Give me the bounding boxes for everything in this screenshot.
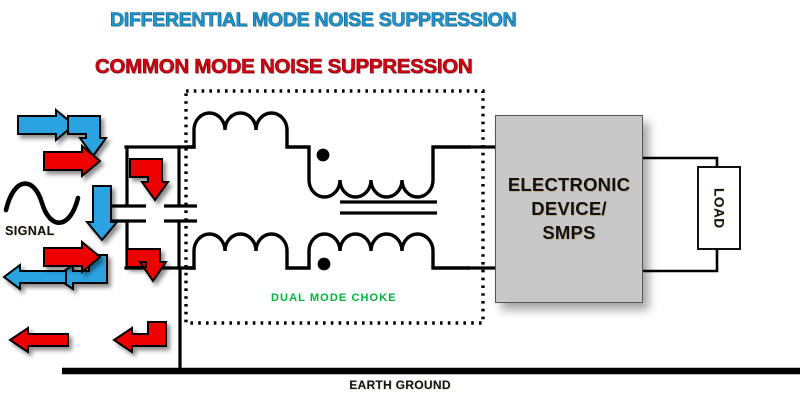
schematic-svg bbox=[0, 0, 800, 409]
device-label-line1: ELECTRONIC bbox=[508, 174, 630, 195]
choke-polarity-dot-upper bbox=[317, 149, 330, 162]
red-arrow-ground-bend-left bbox=[114, 322, 166, 352]
red-arrow-bottom-bend-down bbox=[127, 249, 166, 281]
electronic-device-label: ELECTRONIC DEVICE/ SMPS bbox=[508, 173, 630, 244]
device-label-line2: DEVICE/ bbox=[531, 198, 606, 219]
dual-mode-choke bbox=[186, 113, 470, 270]
red-arrows-group bbox=[10, 146, 168, 352]
red-arrow-top-bend-down bbox=[130, 159, 168, 200]
capacitor-bank bbox=[112, 206, 197, 221]
choke-winding-upper-right bbox=[309, 147, 470, 197]
earth-ground-label: EARTH GROUND bbox=[0, 378, 800, 392]
choke-polarity-dot-lower bbox=[318, 258, 331, 271]
circuit-diagram-canvas: DIFFERENTIAL MODE NOISE SUPPRESSION COMM… bbox=[0, 0, 800, 409]
load-block: LOAD bbox=[697, 166, 741, 250]
choke-winding-lower-left bbox=[186, 234, 309, 268]
ac-source-sine-icon bbox=[6, 184, 78, 223]
choke-enclosure-dotted-box bbox=[186, 91, 483, 323]
dual-mode-choke-label: DUAL MODE CHOKE bbox=[271, 292, 397, 304]
electronic-device-block: ELECTRONIC DEVICE/ SMPS bbox=[495, 115, 643, 303]
blue-arrow-in-top bbox=[18, 110, 74, 140]
blue-arrow-out-bottom bbox=[4, 265, 66, 289]
load-label: LOAD bbox=[712, 188, 727, 229]
red-arrow-out-ground bbox=[10, 328, 68, 352]
choke-winding-upper-left bbox=[186, 113, 309, 163]
blue-arrow-mid-down bbox=[87, 186, 117, 240]
device-label-line3: SMPS bbox=[542, 222, 595, 243]
choke-winding-lower-right bbox=[309, 234, 470, 268]
signal-label: SIGNAL bbox=[5, 224, 55, 238]
